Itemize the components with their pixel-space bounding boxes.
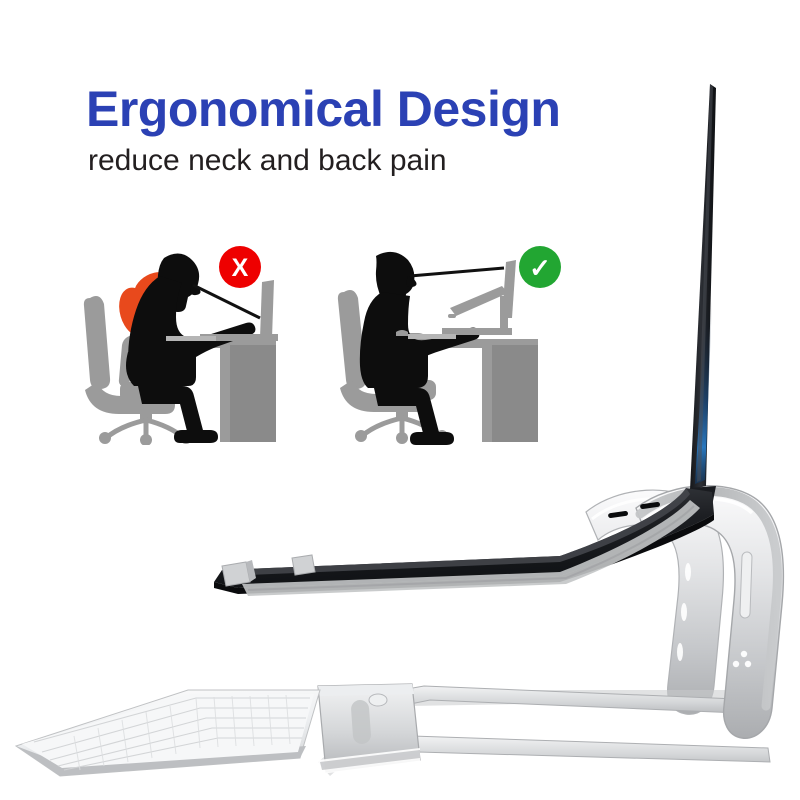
- keyboard: [16, 690, 320, 776]
- badge-check: ✓: [519, 246, 561, 288]
- badge-check-symbol: ✓: [529, 253, 551, 283]
- sightline-good: [410, 268, 504, 276]
- stand-front-lip: [222, 555, 315, 586]
- page-subtitle: reduce neck and back pain: [88, 144, 606, 178]
- headline-block: Ergonomical Design reduce neck and back …: [86, 82, 606, 178]
- sightline-bad: [193, 285, 260, 318]
- product-infographic: Ergonomical Design reduce neck and back …: [0, 0, 800, 800]
- stand-front-arm: [636, 486, 783, 739]
- badge-cross: X: [219, 246, 261, 288]
- page-title: Ergonomical Design: [86, 82, 606, 136]
- stand-back-arm: [586, 490, 723, 714]
- person-silhouette-good: [360, 252, 480, 445]
- bad-posture-illustration: X: [60, 240, 320, 445]
- good-posture-illustration: ✓: [322, 240, 582, 445]
- badge-cross-symbol: X: [232, 254, 249, 282]
- stand-base: [318, 684, 770, 776]
